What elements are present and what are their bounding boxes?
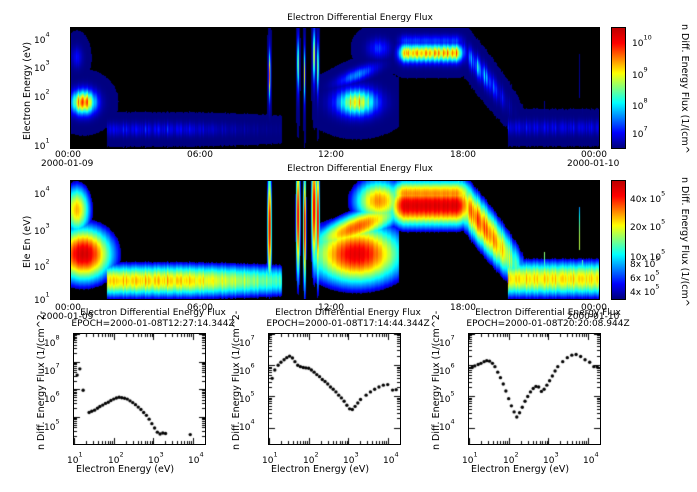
panel2-spectrogram [70,180,600,300]
spectrum2-plot [268,333,401,445]
spectrum3-epoch: EPOCH=2000-01-08T20:20:08.944Z [453,319,643,329]
spectrum3-ytick-2: 105 [439,387,455,406]
panel1-ytick-0: 104 [34,28,50,47]
spectrum1-epoch: EPOCH=2000-01-08T12:27:14.344Z [58,319,248,329]
spectrum3-ytick-1: 106 [439,359,455,378]
panel2-title: Electron Differential Energy Flux [250,164,470,174]
panel1-title: Electron Differential Energy Flux [250,13,470,23]
spectrum2-ytick-3: 104 [239,415,255,434]
panel2-ytick-0: 104 [34,182,50,201]
spectrum3-ytick-0: 107 [439,331,455,350]
panel2-colorbar-label: n Diff. Energy Flux (1/(cm^ [679,177,690,307]
panel1-xdate-right: 2000-01-10 [567,159,619,169]
spectrum3-xtick-3: 104 [583,448,599,467]
panel1-spectrogram [70,27,600,149]
spectrum2-xtick-3: 104 [383,448,399,467]
panel2-colorbar-tick-5: 4x 105 [630,280,660,299]
panel1-xdate-left: 2000-01-09 [41,159,93,169]
spectrum1-ytick-1: 107 [44,359,60,378]
panel1-colorbar-tick-3: 107 [632,122,648,141]
spectrum1-plot [73,333,206,445]
panel2-ytick-3: 101 [34,288,50,307]
spectrum2-ytick-2: 105 [239,387,255,406]
spectrum2-ytick-0: 107 [239,331,255,350]
spectrum2-title: Electron Differential Energy Flux [253,308,443,318]
panel1-ylabel: Electron Energy (eV) [22,42,33,140]
spectrum3-title: Electron Differential Energy Flux [453,308,643,318]
spectrum1-ytick-2: 106 [44,387,60,406]
panel2-colorbar-tick-0: 40x 105 [630,187,665,206]
panel1-ytick-1: 103 [34,56,50,75]
spectrum1-xtick-3: 104 [188,448,204,467]
spectrum3-xlabel: Electron Energy (eV) [471,464,569,475]
panel1-xtick-1: 06:00 [187,150,213,160]
spectrum2-xlabel: Electron Energy (eV) [271,464,369,475]
spectrum1-xlabel: Electron Energy (eV) [76,464,174,475]
panel1-colorbar-tick-2: 108 [632,94,648,113]
panel1-xtick-3: 18:00 [450,150,476,160]
panel1-colorbar-tick-1: 109 [632,63,648,82]
panel2-colorbar-tick-1: 20x 105 [630,215,665,234]
spectrum2-ytick-1: 106 [239,359,255,378]
spectrum1-ytick-3: 105 [44,415,60,434]
panel1-colorbar-tick-0: 1010 [632,31,652,50]
spectrum1-ytick-0: 108 [44,331,60,350]
panel1-ytick-2: 102 [34,85,50,104]
panel2-colorbar [611,180,626,300]
panel2-ytick-2: 102 [34,255,50,274]
panel1-xtick-2: 12:00 [318,150,344,160]
panel1-colorbar [611,27,626,149]
spectrum3-ytick-3: 104 [439,415,455,434]
panel2-ylabel: Ele En (eV) [22,216,33,268]
spectrum2-epoch: EPOCH=2000-01-08T17:14:44.344Z [253,319,443,329]
figure-root: Electron Differential Energy Flux Electr… [0,0,697,492]
panel2-ytick-1: 103 [34,219,50,238]
panel1-colorbar-label: n Diff. Energy Flux (1/(cm^ [679,24,690,154]
spectrum1-title: Electron Differential Energy Flux [58,308,248,318]
panel1-ytick-3: 101 [34,134,50,153]
spectrum3-plot [468,333,601,445]
